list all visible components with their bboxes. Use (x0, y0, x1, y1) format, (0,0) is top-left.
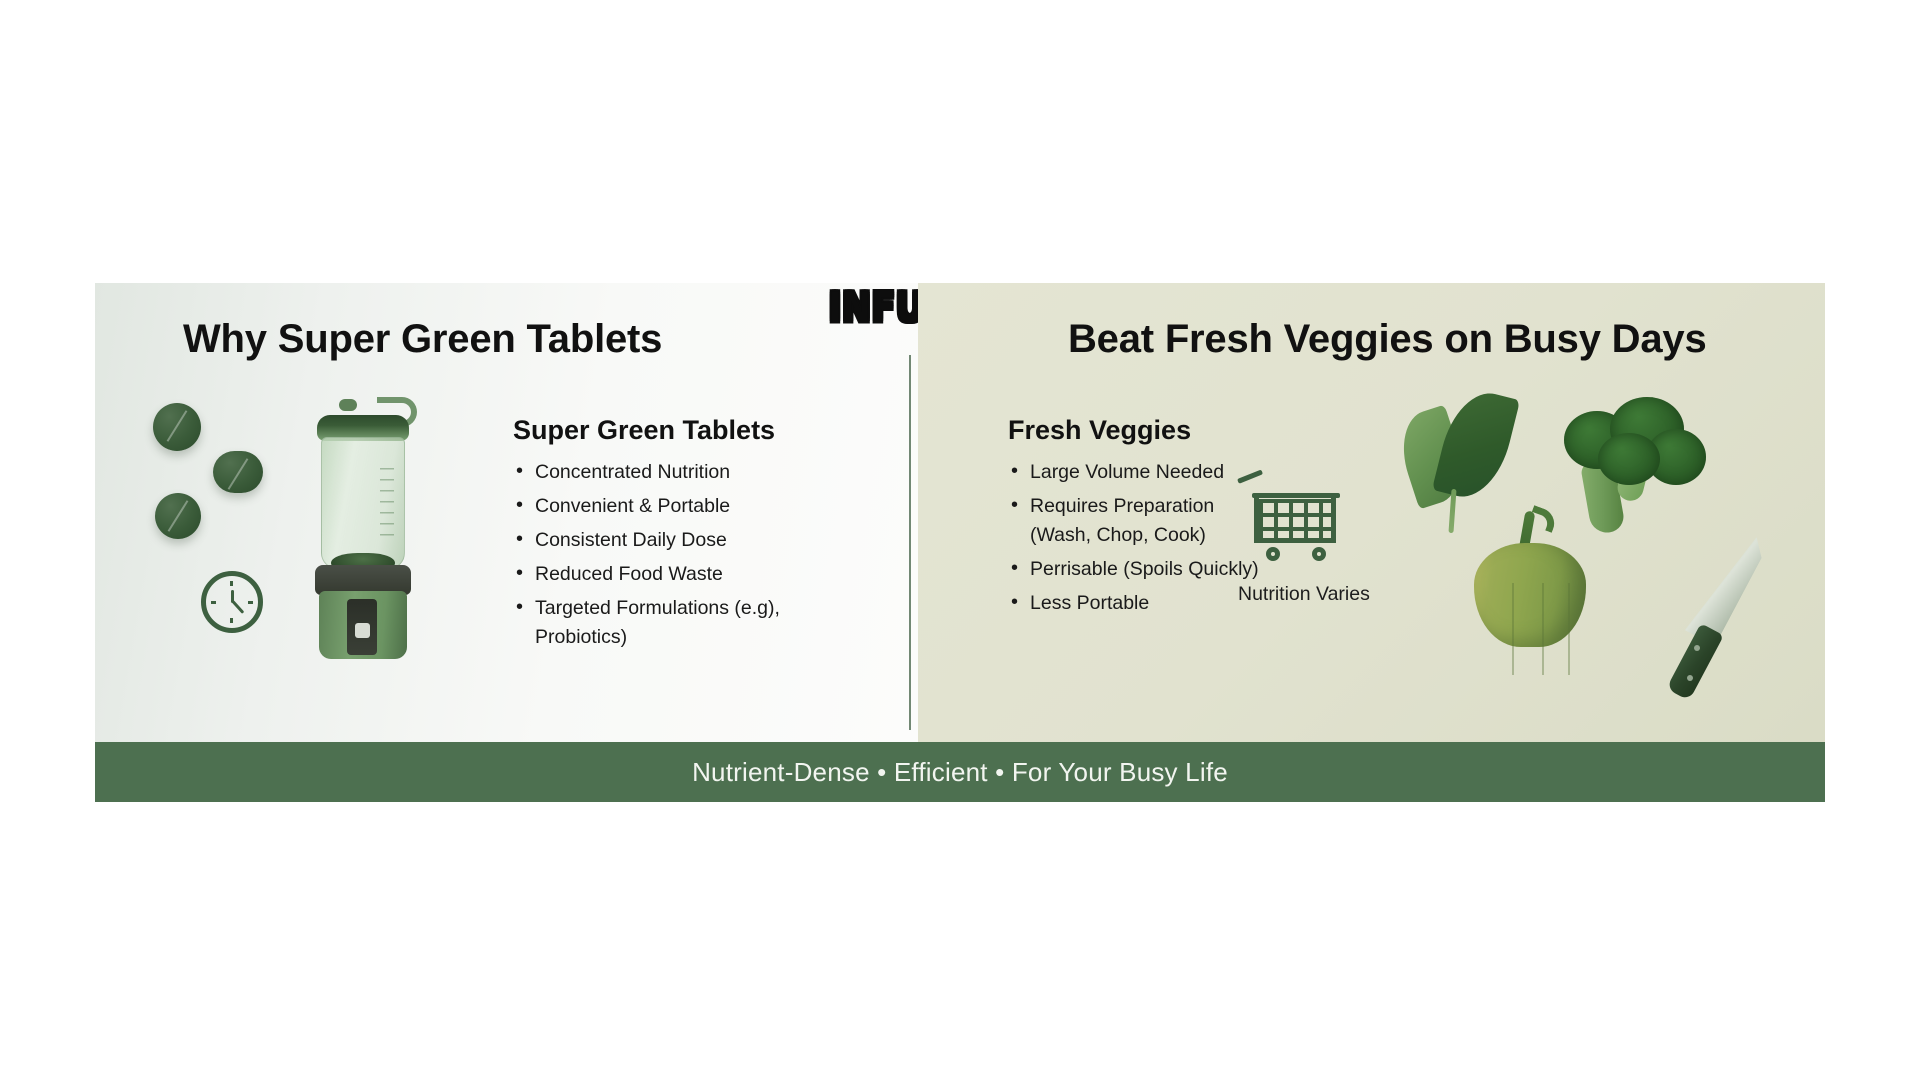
clock-tick-bottom (230, 618, 233, 623)
clock-icon (201, 571, 263, 633)
clock-tick-top (230, 581, 233, 586)
tablet-icon-3 (155, 493, 201, 539)
knife-rivet-1 (1694, 645, 1700, 651)
list-item: Reduced Food Waste (513, 560, 813, 589)
tablet-icon-2 (213, 451, 263, 493)
chef-knife-icon (1676, 529, 1825, 719)
shopping-cart-icon (1238, 473, 1348, 563)
list-item: Convenient & Portable (513, 492, 813, 521)
cart-basket-grid (1259, 499, 1331, 539)
list-item: Consistent Daily Dose (513, 526, 813, 555)
blender-graduation-marks (380, 468, 394, 544)
portable-blender-icon (303, 393, 421, 661)
spinach-leaf-dark (1432, 385, 1520, 505)
pepper-body (1474, 543, 1586, 647)
brand-logo-text: INFUSO (829, 284, 918, 331)
cart-wheel-right (1312, 547, 1326, 561)
panels-container: Why Super Green Tablets (95, 283, 1825, 742)
pepper-lobe-line-2 (1542, 583, 1544, 675)
brand-logo: INFUSO (829, 284, 918, 331)
left-panel-title: Why Super Green Tablets (183, 317, 662, 362)
pepper-lobe-line-3 (1568, 583, 1570, 675)
nutrition-varies-caption: Nutrition Varies (1238, 583, 1370, 606)
left-bullet-list: Concentrated Nutrition Convenient & Port… (513, 458, 813, 652)
right-panel-fresh-veggies: Beat Fresh Veggies on Busy Days Fresh Ve… (918, 283, 1825, 742)
clock-tick-left (211, 601, 216, 604)
clock-minute-hand (231, 600, 244, 614)
comparison-infographic-card: Why Super Green Tablets (95, 283, 1825, 802)
footer-banner-text: Nutrient-Dense • Efficient • For Your Bu… (692, 757, 1228, 788)
blender-power-switch (355, 623, 370, 638)
left-panel-text-block: Super Green Tablets Concentrated Nutriti… (513, 415, 813, 657)
left-list-heading: Super Green Tablets (513, 415, 813, 446)
pepper-lobe-line-1 (1512, 583, 1514, 675)
blender-lid-nub (339, 399, 357, 411)
knife-handle (1666, 623, 1724, 701)
tablet-icon-1 (153, 403, 201, 451)
panel-divider (909, 355, 911, 730)
right-panel-illustration: Nutrition Varies (1228, 383, 1825, 742)
bell-pepper-icon (1468, 509, 1598, 649)
footer-banner: Nutrient-Dense • Efficient • For Your Bu… (95, 742, 1825, 802)
cart-handle (1237, 469, 1263, 483)
broccoli-floret-4 (1598, 433, 1660, 485)
left-panel-super-green-tablets: Why Super Green Tablets (95, 283, 918, 742)
right-panel-title: Beat Fresh Veggies on Busy Days (1068, 317, 1707, 362)
knife-rivet-2 (1687, 675, 1693, 681)
left-panel-illustration (135, 393, 435, 683)
list-item: Concentrated Nutrition (513, 458, 813, 487)
cart-wheel-left (1266, 547, 1280, 561)
blender-jar (321, 437, 405, 569)
list-item: Targeted Formulations (e.g), Probiotics) (513, 594, 813, 652)
clock-tick-right (248, 601, 253, 604)
